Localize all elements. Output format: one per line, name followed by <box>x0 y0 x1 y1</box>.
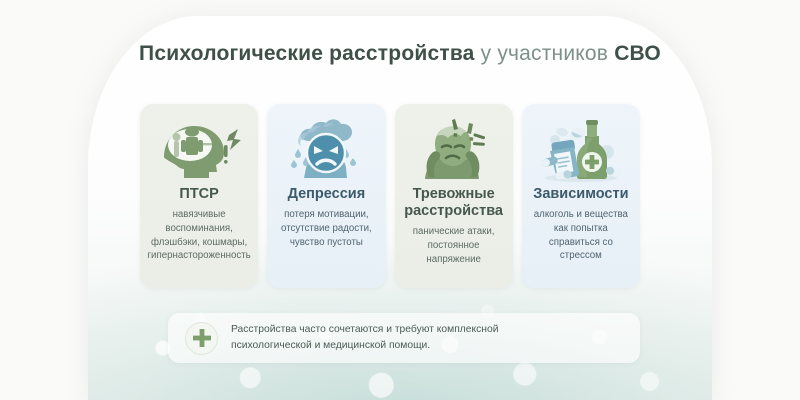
title-part-strong: Психологические расстройства <box>139 42 475 65</box>
card-depression[interactable]: Депрессия потеря мотивации, отсутствие р… <box>267 104 385 288</box>
stressed-person-head-icon <box>411 114 497 186</box>
summary-banner: Расстройства часто сочетаются и требуют … <box>168 313 640 363</box>
card-ptsd[interactable]: ПТСР навязчивые воспоминания, флэшбэки, … <box>140 104 258 288</box>
sad-face-raincloud-icon <box>284 114 368 186</box>
card-anxiety[interactable]: Тревожные расстройства панические атаки,… <box>395 104 513 288</box>
card-body: навязчивые воспоминания, флэшбэки, кошма… <box>148 208 251 263</box>
card-title: Депрессия <box>288 186 366 203</box>
medical-cross-icon <box>185 322 218 355</box>
card-addiction[interactable]: Зависимости алкоголь и вещества как попы… <box>522 104 640 288</box>
bottle-pills-icon <box>537 114 625 186</box>
disorder-cards-row: ПТСР навязчивые воспоминания, флэшбэки, … <box>140 104 640 288</box>
card-title: Тревожные расстройства <box>400 186 508 220</box>
title-part-light: у участников <box>475 42 615 65</box>
title-part-acronym: СВО <box>614 42 661 65</box>
card-title: Зависимости <box>533 186 628 203</box>
card-body: потеря мотивации, отсутствие радости, чу… <box>281 208 372 249</box>
card-title: ПТСР <box>179 186 218 203</box>
card-body: панические атаки, постоянное напряжение <box>400 225 508 266</box>
page-title: Психологические расстройства у участнико… <box>0 42 800 66</box>
summary-text: Расстройства часто сочетаются и требуют … <box>231 322 498 354</box>
head-soldier-flashback-icon <box>156 114 242 186</box>
card-body: алкоголь и вещества как попытка справить… <box>527 208 635 263</box>
infographic-root: Психологические расстройства у участнико… <box>0 0 800 400</box>
